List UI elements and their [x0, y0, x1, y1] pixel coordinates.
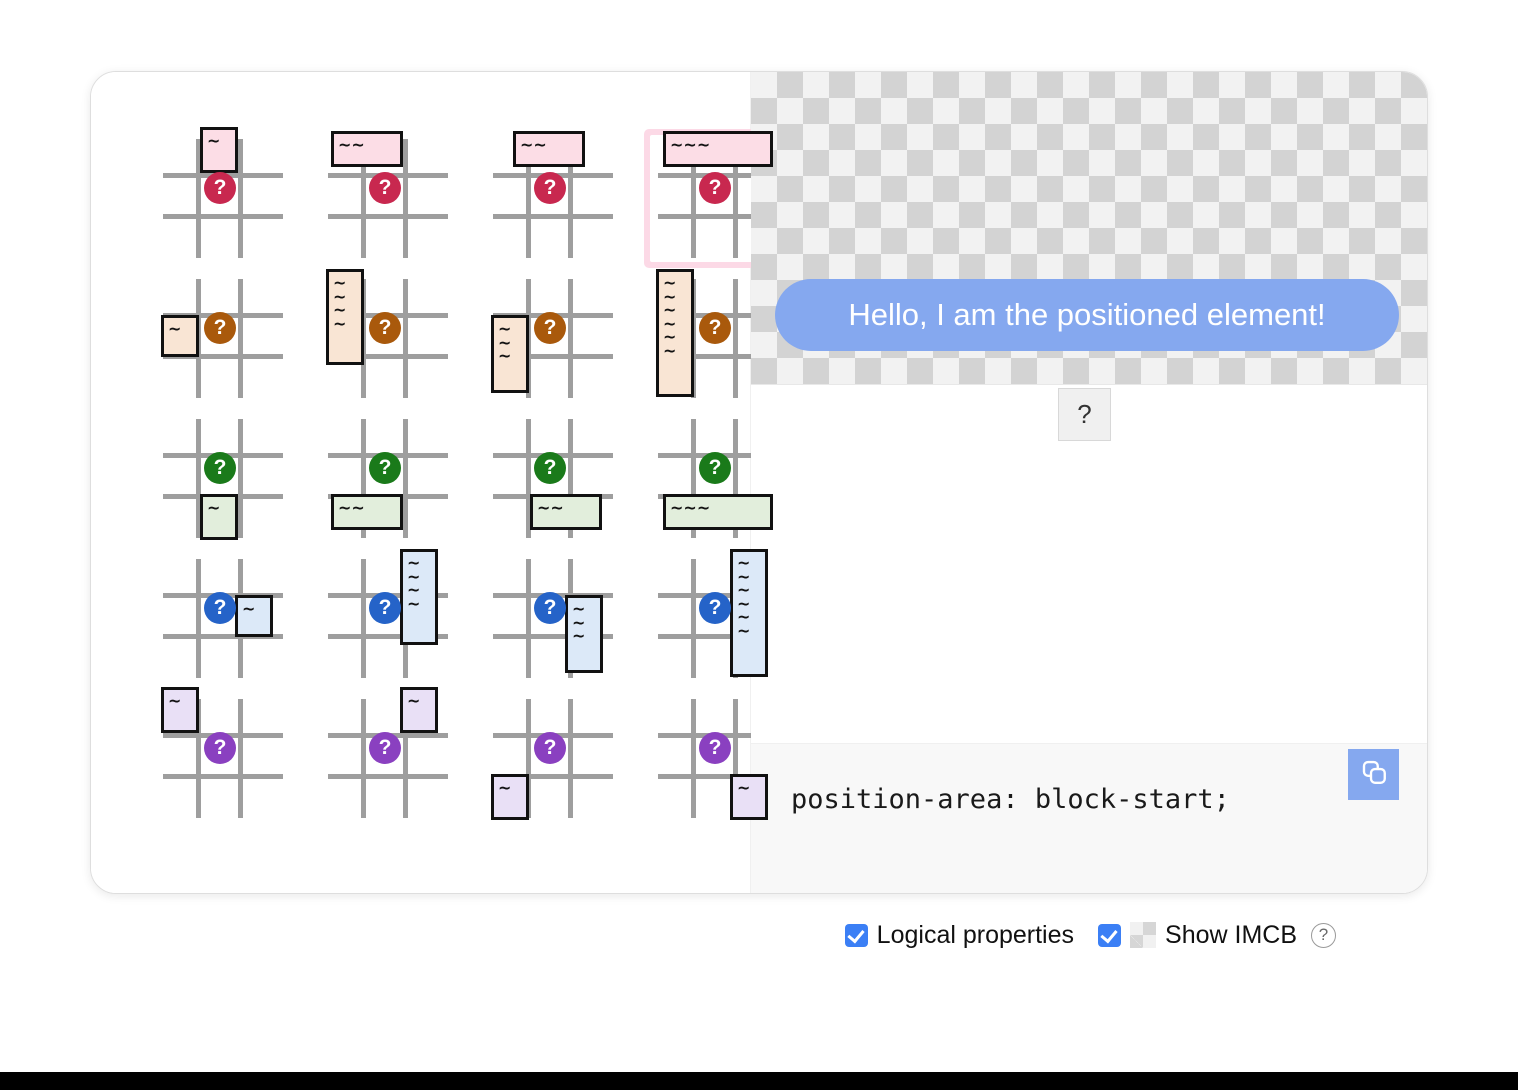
position-area-option[interactable]: ~ ~ ~ ~? — [314, 549, 462, 688]
option-grid-pane: ~?~~?~~?~~~?~?~ ~ ~ ~?~ ~ ~?~ ~ ~ ~ ~ ~?… — [91, 72, 751, 893]
option-tile-preview: ~~~ — [663, 131, 773, 167]
positioned-element: Hello, I am the positioned element! — [775, 279, 1399, 351]
copy-button[interactable] — [1348, 749, 1399, 800]
anchor-element: ? — [1058, 388, 1111, 441]
position-area-option[interactable]: ~? — [149, 689, 297, 828]
position-area-option[interactable]: ~~? — [314, 129, 462, 268]
position-area-option[interactable]: ~? — [149, 409, 297, 548]
option-anchor-badge: ? — [204, 312, 236, 344]
option-tile-preview: ~ ~ ~ ~ ~ ~ — [656, 269, 694, 397]
options-bar: Logical properties Show IMCB ? — [0, 903, 1428, 967]
code-output-panel: position-area: block-start; — [751, 743, 1427, 893]
position-area-option[interactable]: ~~? — [314, 409, 462, 548]
option-anchor-badge: ? — [369, 452, 401, 484]
option-anchor-badge: ? — [699, 172, 731, 204]
position-area-option[interactable]: ~? — [314, 689, 462, 828]
option-tile-preview: ~ ~ ~ — [565, 595, 603, 673]
imcb-checkerboard-region: Hello, I am the positioned element! — [751, 72, 1427, 385]
position-area-option-grid: ~?~~?~~?~~~?~?~ ~ ~ ~?~ ~ ~?~ ~ ~ ~ ~ ~?… — [149, 129, 792, 828]
option-tile-preview: ~ — [400, 687, 438, 733]
show-imcb-control[interactable]: Show IMCB — [1098, 921, 1297, 950]
option-tile-preview: ~~ — [331, 494, 403, 530]
option-tile-preview: ~ ~ ~ — [491, 315, 529, 393]
logical-properties-checkbox[interactable] — [845, 924, 868, 947]
logical-properties-label: Logical properties — [877, 921, 1074, 950]
option-anchor-badge: ? — [204, 592, 236, 624]
option-anchor-badge: ? — [699, 732, 731, 764]
logical-properties-control[interactable]: Logical properties — [845, 921, 1074, 950]
preview-pane: Hello, I am the positioned element! ? po… — [751, 72, 1427, 893]
option-tile-preview: ~~ — [530, 494, 602, 530]
option-anchor-badge: ? — [369, 592, 401, 624]
option-anchor-badge: ? — [534, 592, 566, 624]
option-tile-preview: ~ — [235, 595, 273, 637]
option-anchor-badge: ? — [534, 732, 566, 764]
option-tile-preview: ~~~ — [663, 494, 773, 530]
option-anchor-badge: ? — [699, 312, 731, 344]
option-tile-preview: ~~ — [513, 131, 585, 167]
position-area-option[interactable]: ~? — [149, 269, 297, 408]
copy-icon — [1359, 757, 1389, 792]
position-area-option[interactable]: ~? — [149, 129, 297, 268]
option-anchor-badge: ? — [369, 312, 401, 344]
option-anchor-badge: ? — [369, 172, 401, 204]
option-tile-preview: ~ — [161, 315, 199, 357]
position-area-option[interactable]: ~? — [149, 549, 297, 688]
option-tile-preview: ~ — [161, 687, 199, 733]
option-tile-preview: ~~ — [331, 131, 403, 167]
option-anchor-badge: ? — [699, 452, 731, 484]
position-area-picker-card: ~?~~?~~?~~~?~?~ ~ ~ ~?~ ~ ~?~ ~ ~ ~ ~ ~?… — [90, 71, 1428, 894]
option-tile-preview: ~ ~ ~ ~ — [400, 549, 438, 645]
show-imcb-label: Show IMCB — [1165, 921, 1297, 950]
option-tile-preview: ~ — [491, 774, 529, 820]
position-area-option[interactable]: ~? — [479, 689, 627, 828]
option-tile-preview: ~ — [730, 774, 768, 820]
option-tile-preview: ~ — [200, 494, 238, 540]
option-anchor-badge: ? — [534, 312, 566, 344]
position-area-option[interactable]: ~ ~ ~ ~? — [314, 269, 462, 408]
option-anchor-badge: ? — [204, 452, 236, 484]
option-anchor-badge: ? — [204, 172, 236, 204]
position-area-declaration: position-area: block-start; — [791, 784, 1230, 815]
option-tile-preview: ~ ~ ~ ~ — [326, 269, 364, 365]
show-imcb-checkbox[interactable] — [1098, 924, 1121, 947]
page-bottom-bar — [0, 1072, 1518, 1090]
option-anchor-badge: ? — [369, 732, 401, 764]
option-anchor-badge: ? — [699, 592, 731, 624]
option-anchor-badge: ? — [204, 732, 236, 764]
screen: ~?~~?~~?~~~?~?~ ~ ~ ~?~ ~ ~?~ ~ ~ ~ ~ ~?… — [0, 0, 1518, 1090]
position-area-option[interactable]: ~~? — [479, 409, 627, 548]
position-area-option[interactable]: ~ ~ ~? — [479, 549, 627, 688]
position-area-option[interactable]: ~~? — [479, 129, 627, 268]
imcb-checkerboard-swatch — [1130, 922, 1156, 948]
help-icon[interactable]: ? — [1311, 923, 1336, 948]
option-anchor-badge: ? — [534, 452, 566, 484]
option-tile-preview: ~ ~ ~ ~ ~ ~ — [730, 549, 768, 677]
option-tile-preview: ~ — [200, 127, 238, 173]
position-area-option[interactable]: ~ ~ ~? — [479, 269, 627, 408]
option-anchor-badge: ? — [534, 172, 566, 204]
